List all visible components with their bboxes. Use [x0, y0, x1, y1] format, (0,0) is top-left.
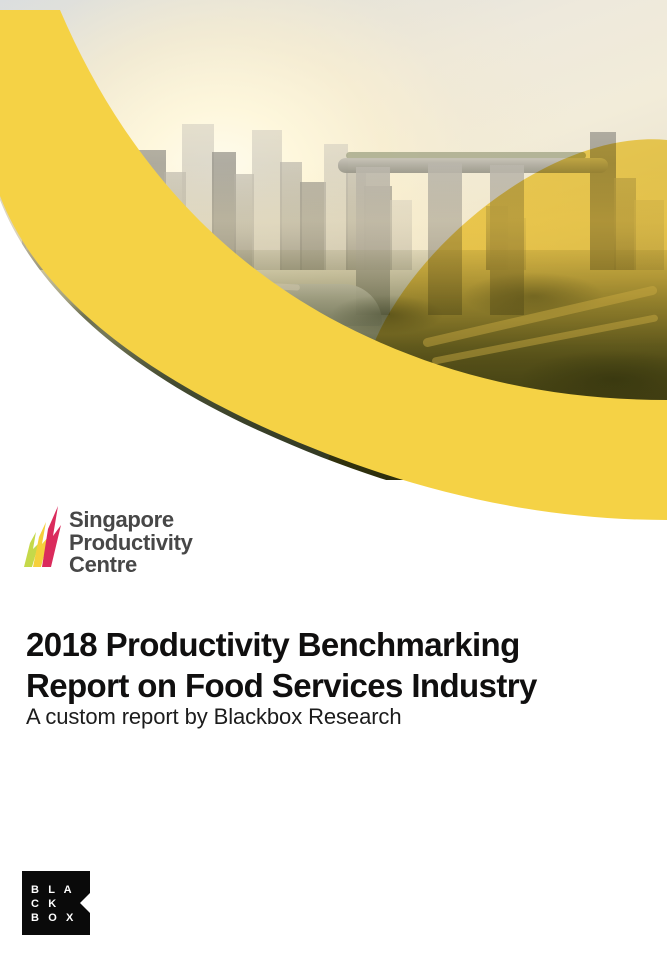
- spc-line-2: Productivity: [69, 532, 193, 555]
- blackbox-wordmark: B L A C K B O X: [31, 883, 76, 925]
- title-line-2: Report on Food Services Industry: [26, 667, 537, 704]
- spc-wordmark: Singapore Productivity Centre: [69, 503, 193, 577]
- hero-banner: [0, 0, 667, 560]
- singapore-productivity-centre-logo: Singapore Productivity Centre: [22, 503, 193, 577]
- spc-line-1: Singapore: [69, 509, 193, 532]
- blackbox-row-1: B L A: [31, 883, 76, 897]
- blackbox-row-3: B O X: [31, 911, 76, 925]
- page-subtitle: A custom report by Blackbox Research: [26, 702, 626, 732]
- page-title: 2018 Productivity Benchmarking Report on…: [26, 624, 626, 706]
- spc-line-3: Centre: [69, 554, 193, 577]
- spc-flame-mark: [22, 503, 62, 573]
- report-cover-page: Singapore Productivity Centre 2018 Produ…: [0, 0, 667, 963]
- blackbox-logo-notch-icon: [80, 893, 90, 913]
- blackbox-row-2: C K: [31, 897, 76, 911]
- blackbox-research-logo: B L A C K B O X: [22, 871, 90, 935]
- title-line-1: 2018 Productivity Benchmarking: [26, 626, 520, 663]
